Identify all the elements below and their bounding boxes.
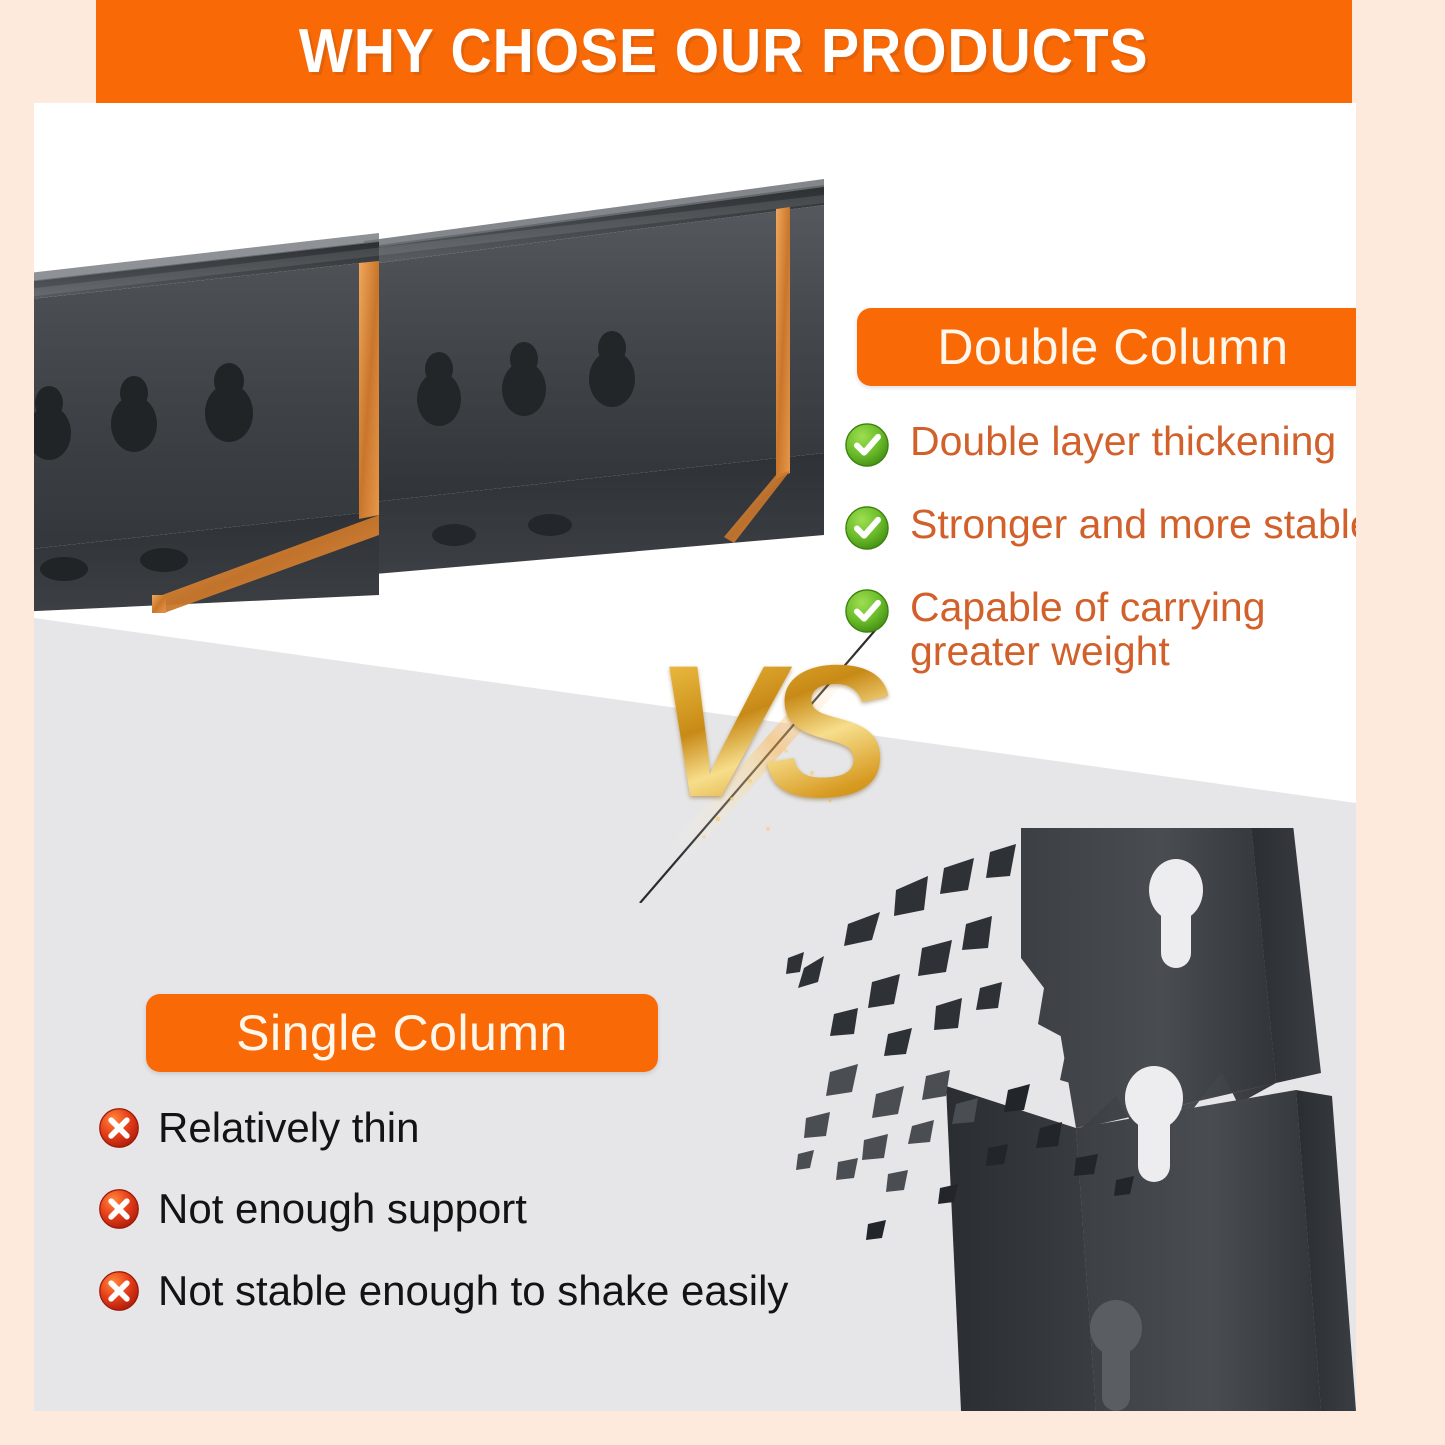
check-circle-icon — [844, 588, 890, 634]
double-column-benefits-list: Double layer thickening Stronger and mor… — [844, 419, 1356, 708]
list-item: Not stable enough to shake easily — [98, 1268, 888, 1313]
single-column-badge-label: Single Column — [236, 1004, 568, 1062]
x-circle-icon — [98, 1188, 140, 1230]
single-column-badge: Single Column — [146, 994, 658, 1072]
list-item-label: Not stable enough to shake easily — [158, 1268, 788, 1313]
list-item: Stronger and more stable — [844, 502, 1356, 551]
double-column-badge: Double Column — [857, 308, 1356, 386]
list-item-label: Relatively thin — [158, 1105, 419, 1150]
comparison-card: VS — [34, 103, 1356, 1411]
list-item: Relatively thin — [98, 1105, 888, 1150]
header-banner: WHY CHOSE OUR PRODUCTS — [96, 0, 1352, 103]
check-circle-icon — [844, 422, 890, 468]
list-item-label: Double layer thickening — [910, 419, 1336, 463]
single-column-drawbacks-list: Relatively thin Not enough support Not s… — [98, 1105, 888, 1349]
list-item-label: Not enough support — [158, 1186, 527, 1231]
list-item: Not enough support — [98, 1186, 888, 1231]
list-item: Double layer thickening — [844, 419, 1356, 468]
double-column-beam-image — [34, 143, 824, 613]
x-circle-icon — [98, 1270, 140, 1312]
list-item: Capable of carrying greater weight — [844, 585, 1356, 674]
list-item-label: Stronger and more stable — [910, 502, 1356, 546]
product-comparison-poster: WHY CHOSE OUR PRODUCTS — [0, 0, 1445, 1445]
x-circle-icon — [98, 1107, 140, 1149]
page-title: WHY CHOSE OUR PRODUCTS — [299, 16, 1149, 87]
double-column-badge-label: Double Column — [937, 318, 1288, 376]
check-circle-icon — [844, 505, 890, 551]
list-item-label: Capable of carrying greater weight — [910, 585, 1310, 674]
